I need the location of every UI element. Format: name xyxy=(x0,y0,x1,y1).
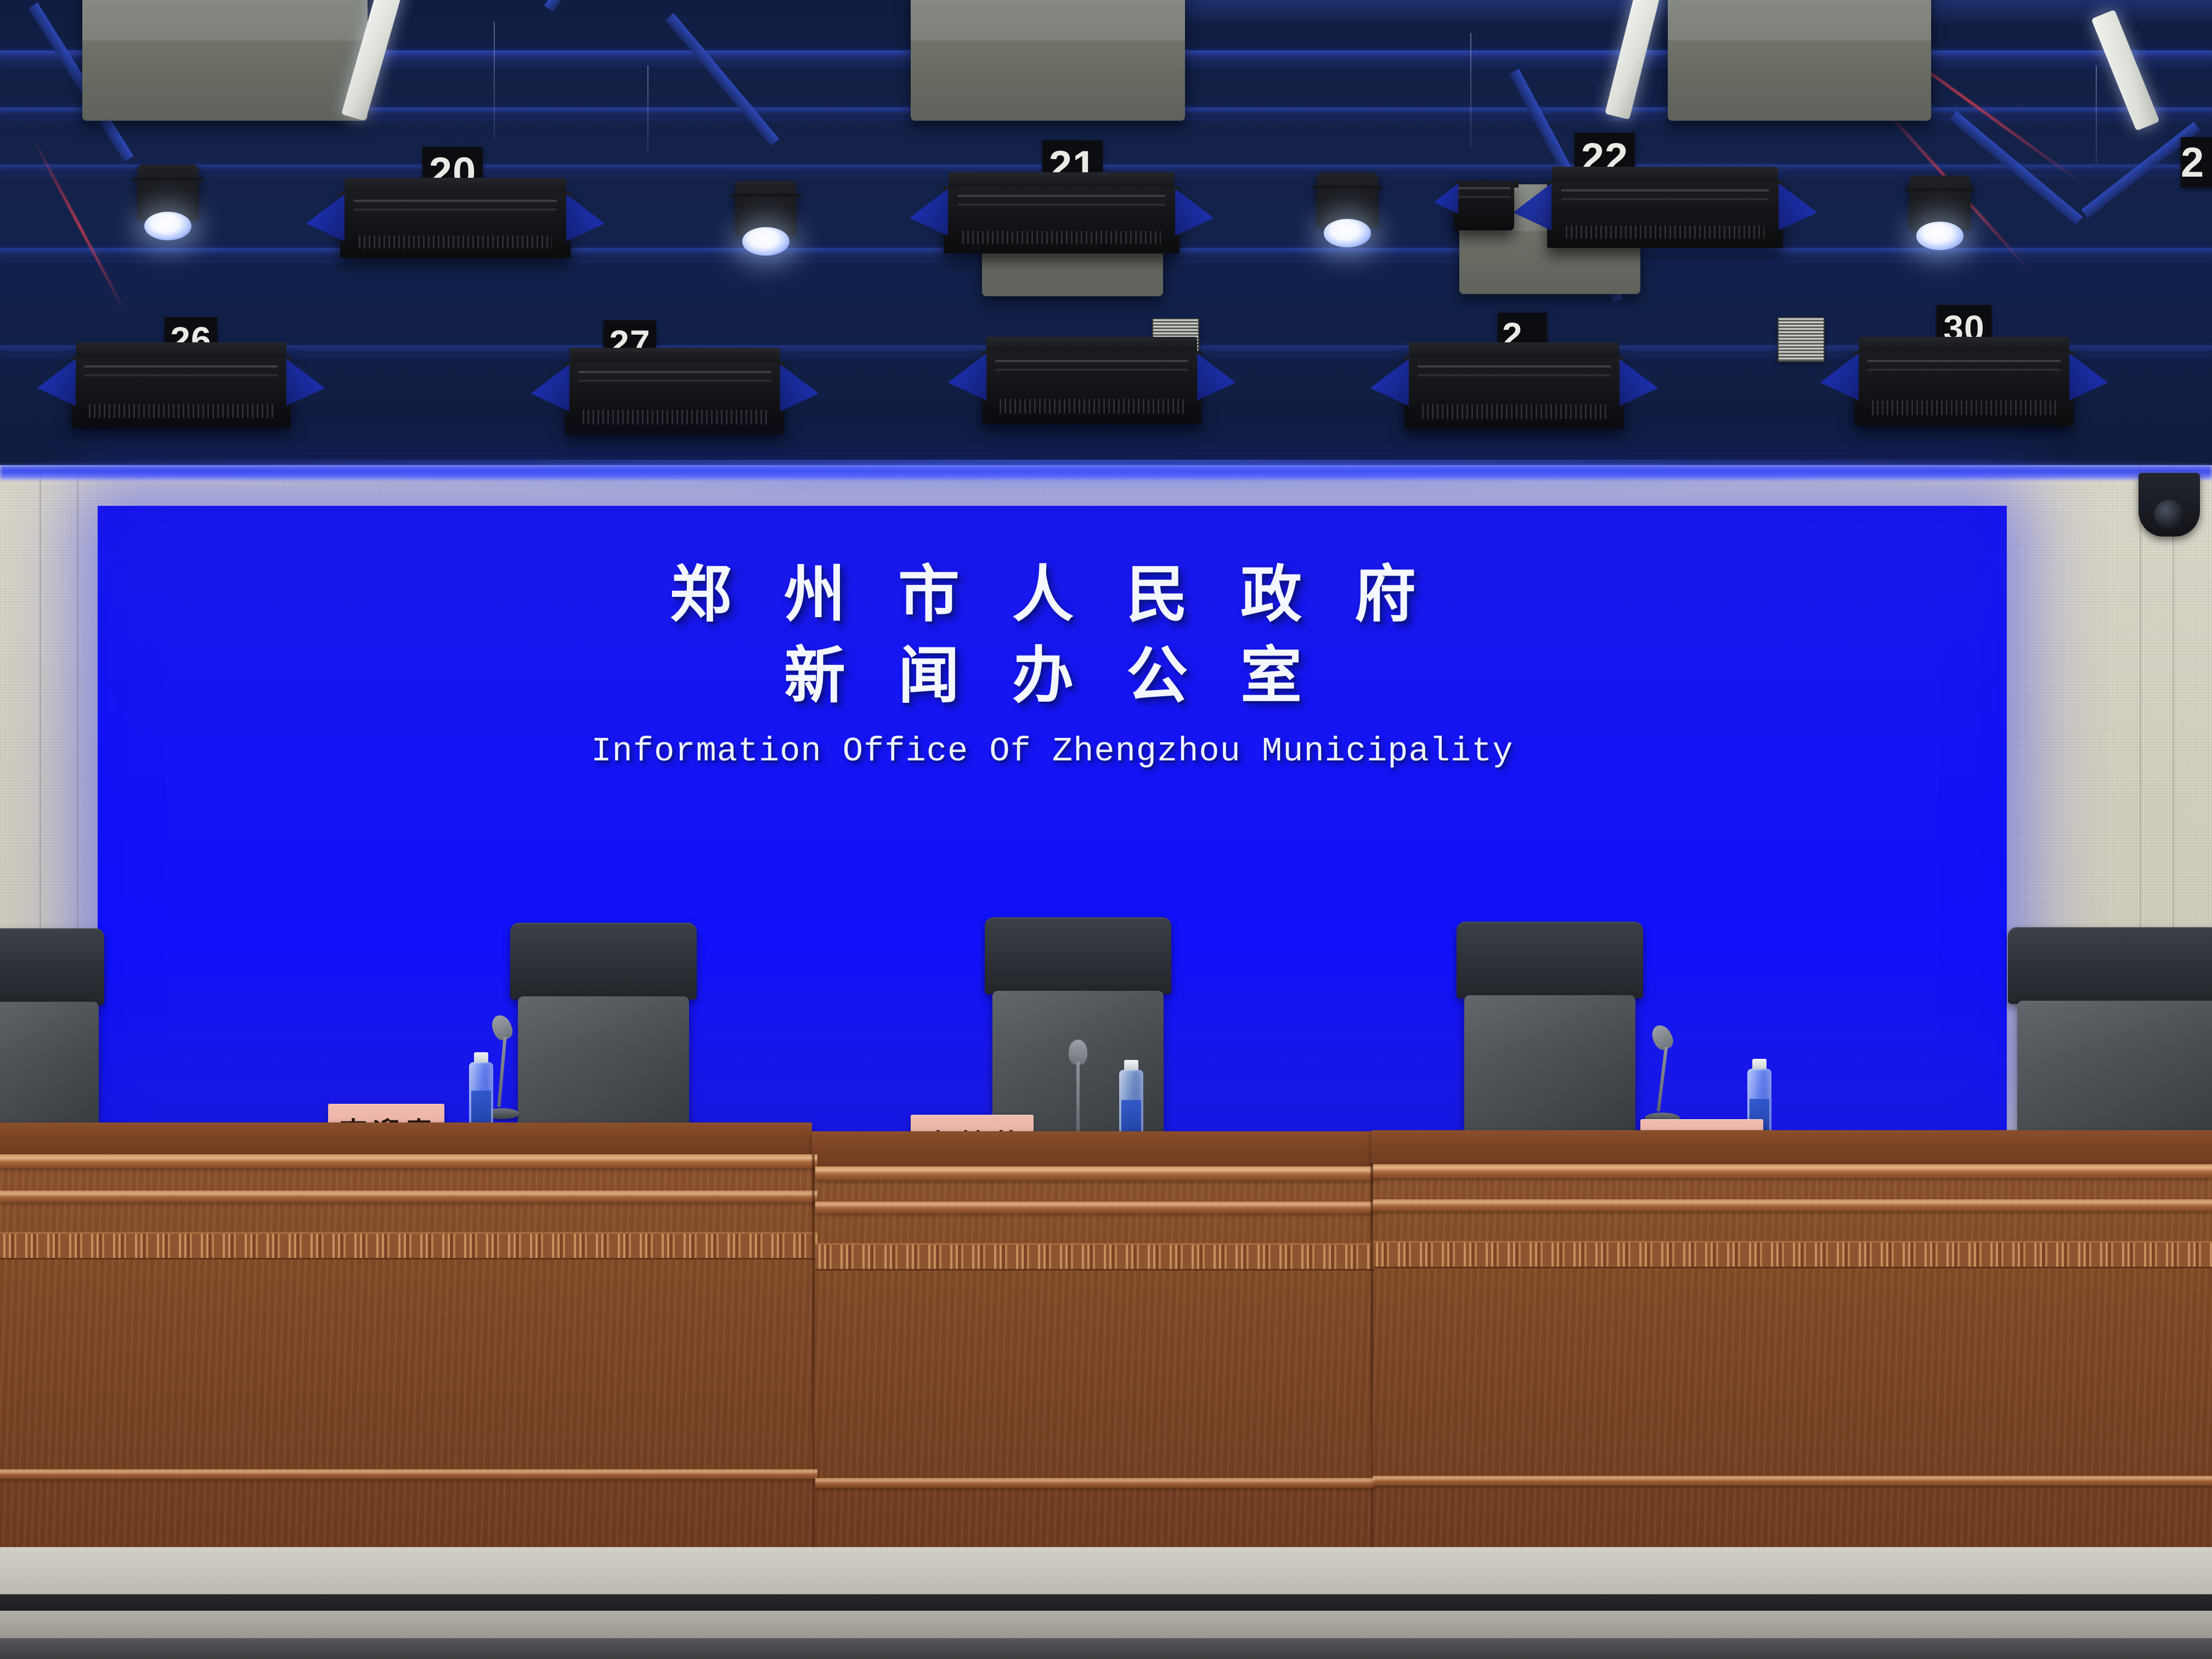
conference-chair-icon xyxy=(0,928,104,1131)
moving-head-light-icon xyxy=(1454,181,1514,230)
ceiling-brace xyxy=(665,13,779,146)
barn-door-light-icon xyxy=(1854,351,2074,426)
barn-door-light-icon xyxy=(565,362,785,435)
podium-top-rail xyxy=(0,1154,817,1169)
acoustic-panel xyxy=(82,0,368,121)
spotlight-icon xyxy=(1317,173,1378,243)
podium-front-panel xyxy=(815,1166,1375,1550)
air-vent-grille-icon xyxy=(1778,317,1825,362)
barn-door-light-icon xyxy=(944,187,1180,253)
acoustic-panel xyxy=(1668,0,1931,121)
spotlight-icon xyxy=(137,165,199,236)
podium-accent-rail xyxy=(1373,1199,2212,1211)
fixture-number-label: 2 xyxy=(2181,139,2204,187)
hanging-wire xyxy=(494,22,495,140)
podium-base-rail xyxy=(1373,1476,2212,1486)
podium-front-panel xyxy=(0,1154,817,1549)
floor-carpet xyxy=(0,1638,2212,1659)
desk-surface xyxy=(812,1131,1372,1170)
greek-key-molding xyxy=(815,1243,1375,1271)
press-conference-room: 20 21 22 2 26 27 2 30 xyxy=(0,0,2212,1659)
desk-surface xyxy=(0,1122,812,1159)
dome-security-camera-icon xyxy=(2138,473,2200,537)
ceiling-brace xyxy=(544,0,637,12)
hanging-wire xyxy=(2096,66,2097,165)
podium-panel-seam xyxy=(812,1154,815,1551)
spotlight-icon xyxy=(735,181,797,251)
screen-title-line2: 新 闻 办 公 室 xyxy=(784,636,1321,718)
podium-top-rail xyxy=(815,1166,1375,1181)
podium-accent-rail xyxy=(815,1201,1375,1214)
podium-base-rail xyxy=(0,1469,817,1479)
barn-door-light-icon xyxy=(1404,357,1624,429)
hanging-wire xyxy=(647,66,648,154)
podium-top-rail xyxy=(1373,1164,2212,1178)
greek-key-molding xyxy=(0,1232,817,1260)
conference-chair-icon xyxy=(2008,927,2212,1135)
greek-key-molding xyxy=(1373,1241,2212,1268)
podium-base-rail xyxy=(815,1478,1375,1488)
conference-chair-icon xyxy=(1457,922,1643,1133)
barn-door-light-icon xyxy=(1547,181,1783,248)
ceiling-rig: 20 21 22 2 26 27 2 30 xyxy=(0,0,2212,472)
hanging-wire xyxy=(1470,33,1471,148)
podium-front-panel xyxy=(1373,1164,2212,1551)
desk-surface xyxy=(1372,1130,2212,1169)
ceiling-led-glow xyxy=(0,460,2212,498)
ceiling-pipe xyxy=(1042,0,2212,22)
fixture-number-tag: 2 xyxy=(2181,137,2212,188)
barn-door-light-icon xyxy=(71,357,291,428)
barn-door-light-icon xyxy=(340,192,571,258)
screen-title-english: Information Office Of Zhengzhou Municipa… xyxy=(591,732,1513,771)
gooseneck-microphone-icon xyxy=(1643,1025,1681,1124)
spotlight-icon xyxy=(1909,176,1971,246)
podium-panel-seam xyxy=(1370,1163,1373,1553)
screen-title-line1: 郑 州 市 人 民 政 府 xyxy=(670,555,1435,636)
podium-accent-rail xyxy=(0,1190,817,1203)
barn-door-light-icon xyxy=(982,351,1201,424)
conference-chair-icon xyxy=(510,923,697,1132)
acoustic-panel xyxy=(911,0,1185,121)
